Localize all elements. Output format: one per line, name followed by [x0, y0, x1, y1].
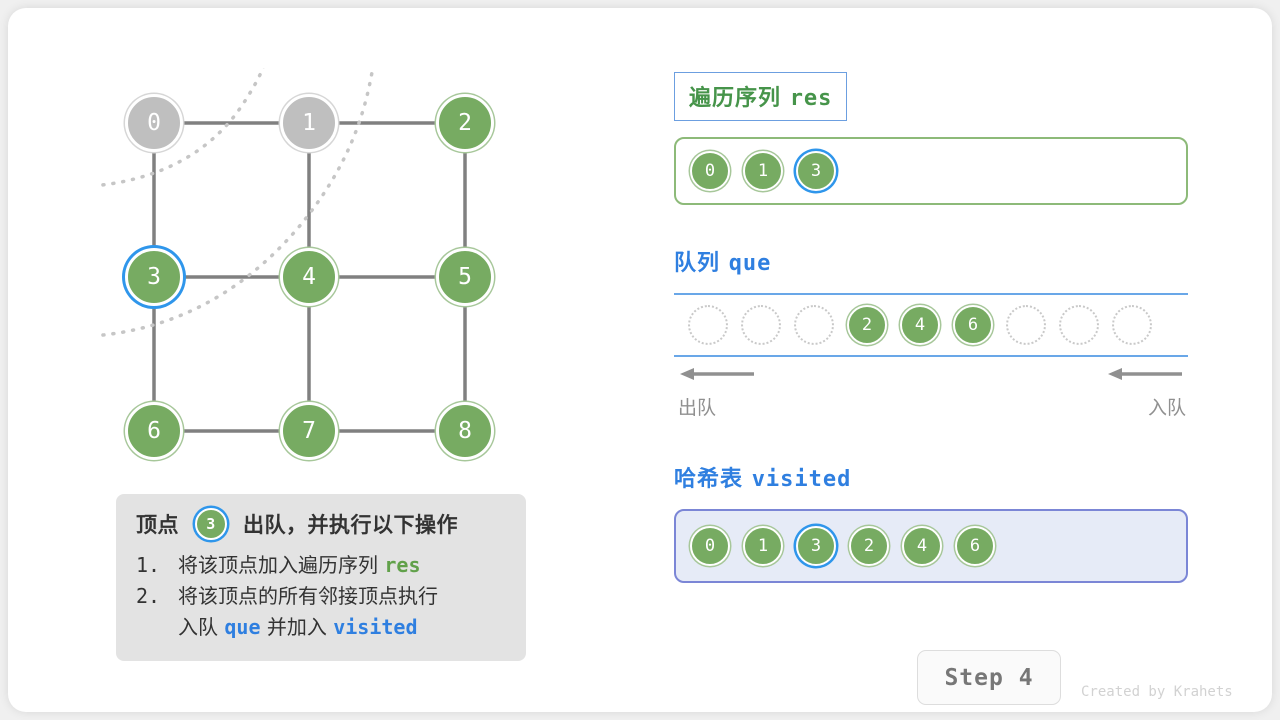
caption-item-1-text: 将该顶点加入遍历序列 res	[178, 550, 420, 581]
graph-node-8[interactable]: 8	[436, 402, 494, 460]
caption-item-2-text: 将该顶点的所有邻接顶点执行 入队 que 并加入 visited	[178, 581, 438, 643]
enqueue-group: 入队	[1106, 365, 1186, 420]
visited-title-code: visited	[752, 467, 852, 492]
que-empty-slot-1[interactable]	[741, 305, 781, 345]
caption-item-2-text-enqueue: 入队	[178, 615, 218, 639]
caption-item-2-number: 2.	[136, 581, 178, 643]
graph-node-2[interactable]: 2	[436, 94, 494, 152]
visited-container: 013246	[674, 509, 1188, 583]
enqueue-arrow-icon	[1106, 365, 1186, 383]
que-item-4[interactable]: 4	[900, 305, 940, 345]
content-card: 012345678 顶点 3 出队，并执行以下操作 1. 将该顶点加入遍历序列 …	[8, 8, 1272, 712]
graph-node-0[interactable]: 0	[125, 94, 183, 152]
caption-vertex-chip: 3	[195, 508, 227, 540]
caption-item-2-code-visited: visited	[333, 615, 417, 639]
graph-node-6[interactable]: 6	[125, 402, 183, 460]
caption-item-2-text-addto: 并加入	[267, 615, 327, 639]
que-title-code: que	[729, 251, 772, 276]
visited-item-0[interactable]: 0	[690, 526, 730, 566]
que-empty-slot-6[interactable]	[1006, 305, 1046, 345]
res-section: 遍历序列 res 013	[674, 72, 1190, 205]
dequeue-label: 出队	[678, 393, 758, 420]
caption-item-2-code-que: que	[224, 615, 260, 639]
que-container: 246	[674, 293, 1188, 357]
visited-section: 哈希表 visited 013246	[674, 461, 1190, 583]
visited-item-4[interactable]: 4	[902, 526, 942, 566]
res-title-cn: 遍历序列	[689, 86, 781, 111]
visited-title: 哈希表 visited	[674, 461, 1190, 493]
que-title: 队列 que	[674, 245, 1190, 277]
credit-text: Created by Krahets	[1081, 684, 1233, 700]
graph-node-3[interactable]: 3	[125, 248, 183, 306]
que-empty-slot-0[interactable]	[688, 305, 728, 345]
caption-item-1-number: 1.	[136, 550, 178, 581]
res-item-3[interactable]: 3	[796, 151, 836, 191]
graph-panel: 012345678	[98, 68, 538, 488]
que-item-6[interactable]: 6	[953, 305, 993, 345]
que-arrows: 出队 入队	[674, 365, 1188, 421]
caption-item-2-text-before: 将该顶点的所有邻接顶点执行	[178, 584, 438, 608]
que-empty-slot-8[interactable]	[1112, 305, 1152, 345]
step-badge: Step 4	[917, 650, 1061, 705]
enqueue-label: 入队	[1106, 393, 1186, 420]
caption-item-1-text-before: 将该顶点加入遍历序列	[178, 553, 378, 577]
que-empty-slot-2[interactable]	[794, 305, 834, 345]
graph-node-1[interactable]: 1	[280, 94, 338, 152]
caption-item-1: 1. 将该顶点加入遍历序列 res	[136, 550, 506, 581]
graph-node-4[interactable]: 4	[280, 248, 338, 306]
page-root: 012345678 顶点 3 出队，并执行以下操作 1. 将该顶点加入遍历序列 …	[0, 0, 1280, 720]
dequeue-arrow-icon	[678, 365, 758, 383]
caption-head-suffix: 出队，并执行以下操作	[243, 509, 458, 539]
que-section: 队列 que 246 出队	[674, 245, 1190, 421]
caption-head-prefix: 顶点	[136, 509, 179, 539]
res-title: 遍历序列 res	[674, 72, 847, 121]
dequeue-group: 出队	[678, 365, 758, 420]
que-title-cn: 队列	[674, 251, 720, 276]
right-column: 遍历序列 res 013 队列 que 246	[674, 72, 1190, 583]
graph-node-5[interactable]: 5	[436, 248, 494, 306]
visited-item-6[interactable]: 6	[955, 526, 995, 566]
res-title-code: res	[790, 86, 833, 111]
que-empty-slot-7[interactable]	[1059, 305, 1099, 345]
visited-item-2[interactable]: 2	[849, 526, 889, 566]
res-container: 013	[674, 137, 1188, 205]
caption-box: 顶点 3 出队，并执行以下操作 1. 将该顶点加入遍历序列 res 2. 将该顶…	[116, 494, 526, 661]
visited-title-cn: 哈希表	[674, 467, 743, 492]
caption-heading: 顶点 3 出队，并执行以下操作	[136, 508, 506, 540]
visited-item-3[interactable]: 3	[796, 526, 836, 566]
res-item-0[interactable]: 0	[690, 151, 730, 191]
visited-item-1[interactable]: 1	[743, 526, 783, 566]
res-item-1[interactable]: 1	[743, 151, 783, 191]
graph-node-7[interactable]: 7	[280, 402, 338, 460]
que-item-2[interactable]: 2	[847, 305, 887, 345]
caption-item-2: 2. 将该顶点的所有邻接顶点执行 入队 que 并加入 visited	[136, 581, 506, 643]
caption-item-1-code-res: res	[384, 553, 420, 577]
